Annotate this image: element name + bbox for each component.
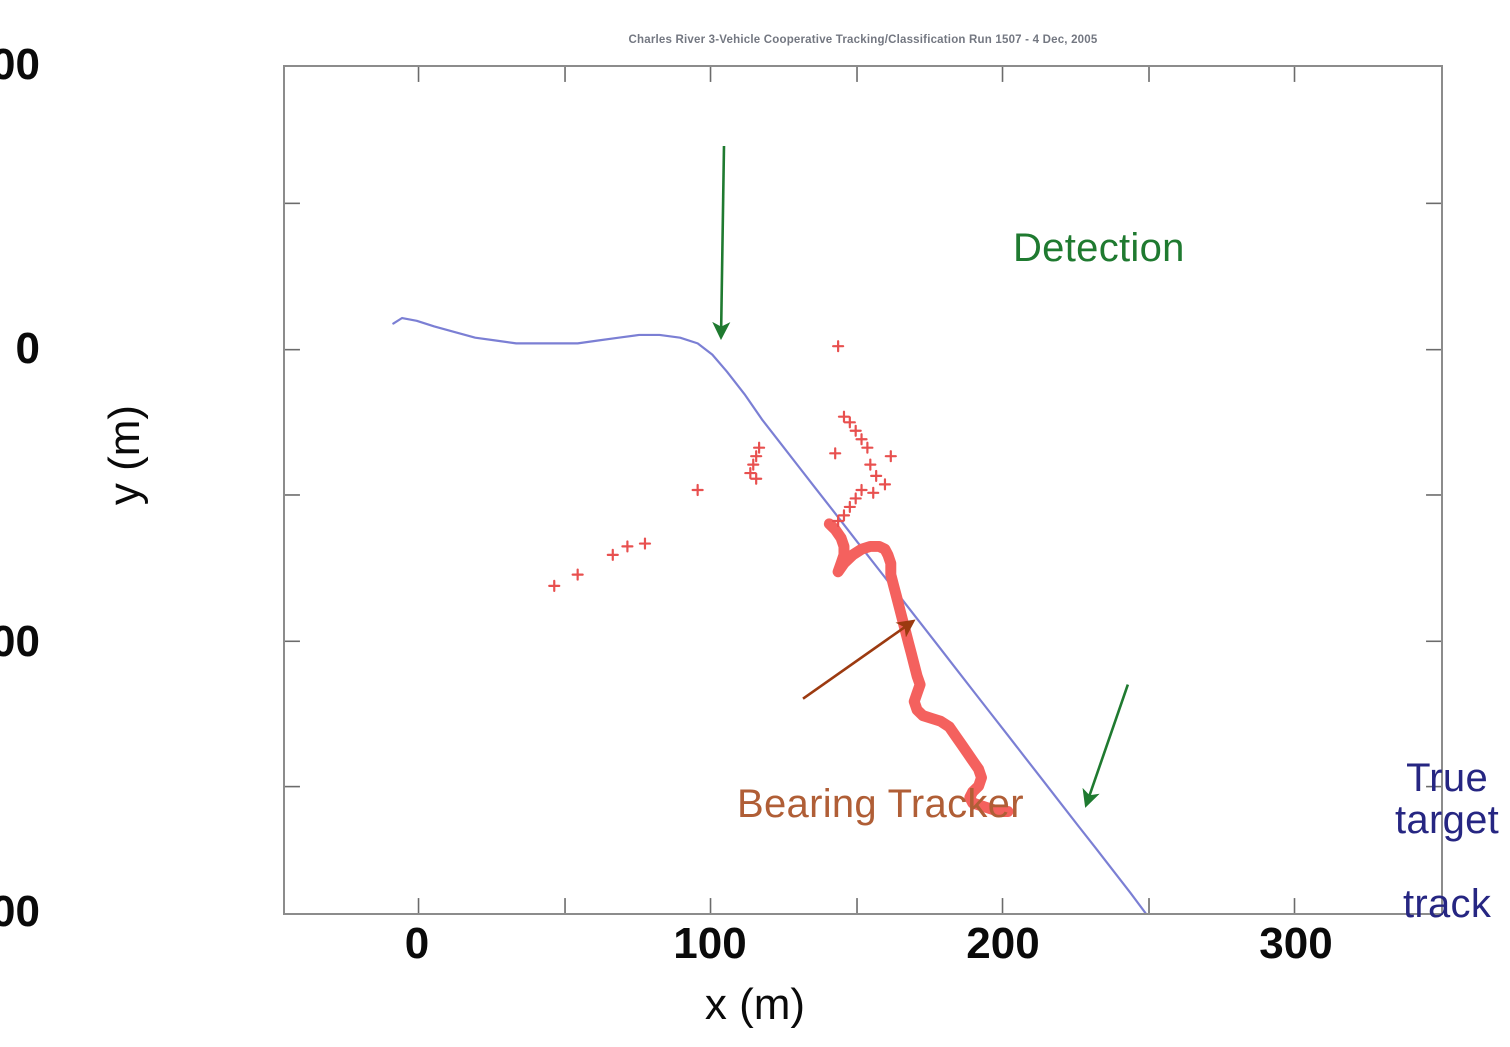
annotation-detection: Detection bbox=[1013, 227, 1185, 269]
y-axis-ticks bbox=[285, 203, 1441, 786]
annotation-true-target-track: True target track bbox=[1395, 715, 1499, 925]
ytick-label-0: 0 bbox=[16, 327, 40, 371]
y-axis-label: y (m) bbox=[100, 305, 150, 605]
chart-title: Charles River 3-Vehicle Cooperative Trac… bbox=[283, 34, 1443, 46]
xtick-label-100: 100 bbox=[673, 922, 746, 966]
ytick-label-minus100: -100 bbox=[0, 43, 40, 87]
plot-area: Detection True target track Bearing Trac… bbox=[283, 65, 1443, 915]
annotation-true-track-line2: track bbox=[1403, 882, 1491, 926]
series-bearing-tracker bbox=[829, 524, 1008, 812]
xtick-label-0: 0 bbox=[405, 922, 429, 966]
figure-canvas: Charles River 3-Vehicle Cooperative Trac… bbox=[0, 0, 1510, 1047]
annotation-bearing-tracker: Bearing Tracker bbox=[737, 783, 1024, 825]
ytick-label-100: 100 bbox=[0, 620, 40, 664]
annotation-true-track-line1: True target bbox=[1395, 756, 1499, 842]
xtick-label-200: 200 bbox=[966, 922, 1039, 966]
ytick-label-200: 200 bbox=[0, 890, 40, 934]
x-axis-label: x (m) bbox=[0, 980, 1510, 1030]
xtick-label-300: 300 bbox=[1259, 922, 1332, 966]
